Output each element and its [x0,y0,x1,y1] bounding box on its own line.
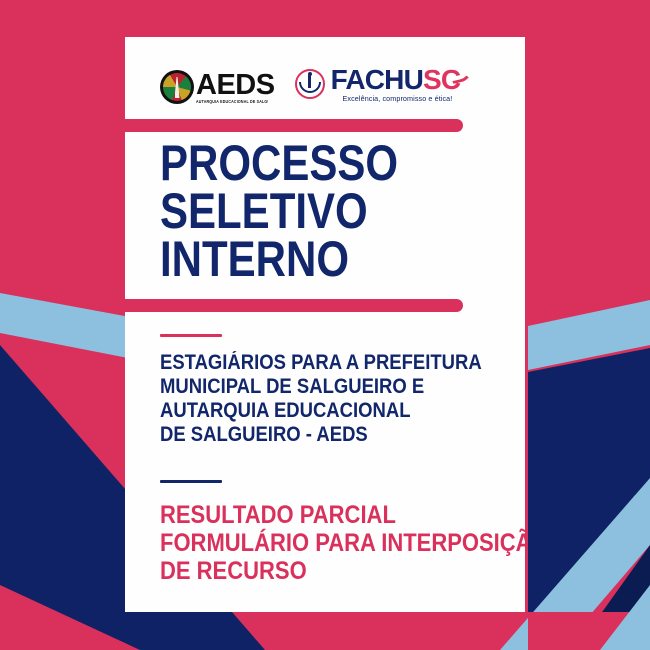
page-title: PROCESSO SELETIVO INTERNO [160,139,398,283]
result-rule [160,480,222,483]
fachusc-textblock: FACHUSC Excelência, compromisso e ética! [331,66,465,103]
fachusc-logo: FACHUSC Excelência, compromisso e ética! [295,66,465,103]
fachusc-swoosh-icon [454,67,464,89]
fachusc-wordmark: FACHUSC [331,66,465,93]
fachusc-lamp-icon [295,69,325,99]
page-title-line-2: SELETIVO [160,187,398,235]
pink-bar-below-headline [125,299,463,312]
pink-bar-above-headline [125,119,463,132]
fachusc-tagline: Excelência, compromisso e ética! [331,94,465,103]
aeds-seal-icon [160,70,194,104]
subject-text: ESTAGIÁRIOS PARA A PREFEITURA MUNICIPAL … [160,351,482,447]
page-title-line-1: PROCESSO [160,139,398,187]
result-line-3: DE RECURSO [160,557,525,585]
aeds-wordblock: AEDS AUTARQUIA EDUCACIONAL DE SALGUEIRO [196,72,275,104]
subject-line-1: ESTAGIÁRIOS PARA A PREFEITURA [160,351,482,375]
logo-row: AEDS AUTARQUIA EDUCACIONAL DE SALGUEIRO … [160,58,464,110]
aeds-logo: AEDS AUTARQUIA EDUCACIONAL DE SALGUEIRO [160,64,275,104]
fachusc-wordmark-part1: FACHU [331,66,423,93]
page-title-line-3: INTERNO [160,235,398,283]
aeds-wordmark: AEDS [196,72,275,99]
result-text: RESULTADO PARCIAL FORMULÁRIO PARA INTERP… [160,501,525,585]
result-line-2: FORMULÁRIO PARA INTERPOSIÇÃO [160,529,525,557]
subject-rule [160,334,222,337]
subject-line-3: AUTARQUIA EDUCACIONAL [160,399,482,423]
subject-line-2: MUNICIPAL DE SALGUEIRO E [160,375,482,399]
poster-card: AEDS AUTARQUIA EDUCACIONAL DE SALGUEIRO … [125,37,525,612]
poster-canvas: AEDS AUTARQUIA EDUCACIONAL DE SALGUEIRO … [0,0,650,650]
aeds-subtitle: AUTARQUIA EDUCACIONAL DE SALGUEIRO [196,99,268,105]
subject-section: ESTAGIÁRIOS PARA A PREFEITURA MUNICIPAL … [160,334,525,447]
subject-line-4: DE SALGUEIRO - AEDS [160,423,482,447]
result-section: RESULTADO PARCIAL FORMULÁRIO PARA INTERP… [160,480,525,585]
result-line-1: RESULTADO PARCIAL [160,501,525,529]
